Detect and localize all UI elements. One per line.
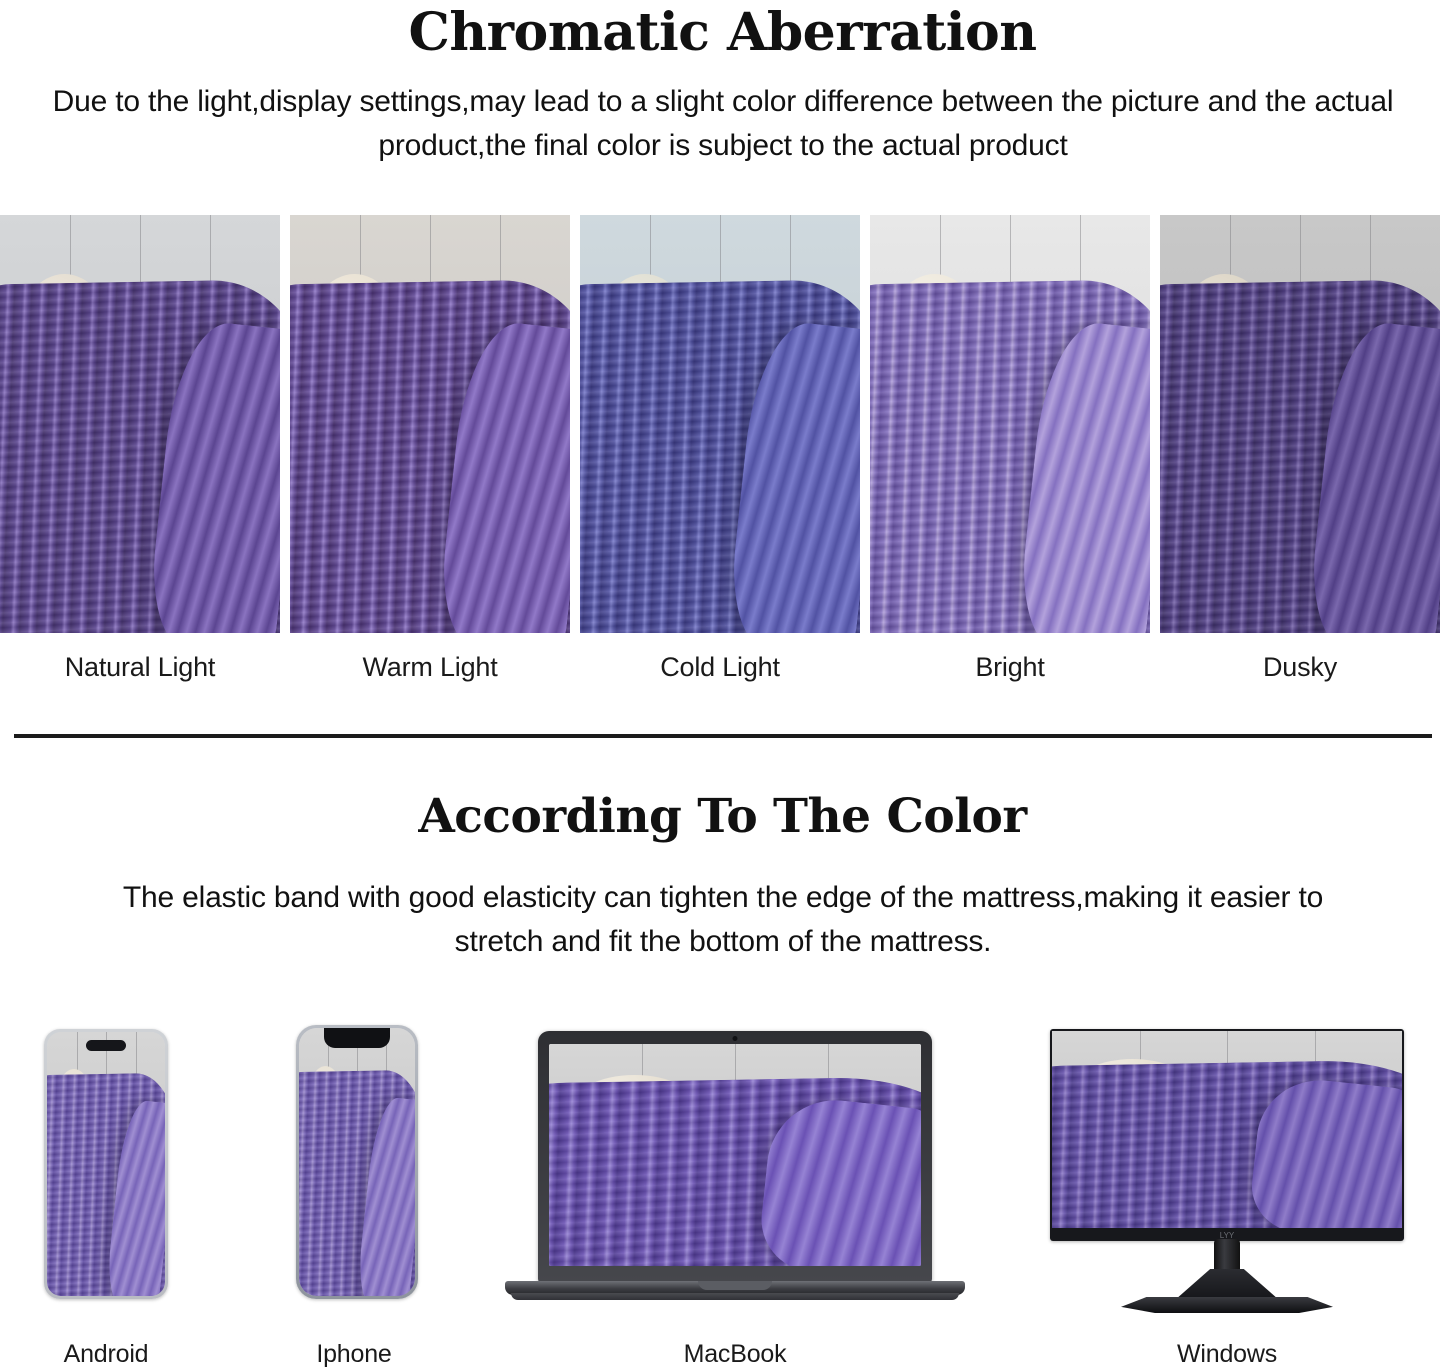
device-windows-monitor: LYY — [1050, 1029, 1404, 1315]
monitor-scene — [1052, 1031, 1402, 1228]
device-label: Windows — [1050, 1340, 1404, 1369]
lighting-panel-label: Natural Light — [0, 652, 280, 683]
lighting-panel-label: Warm Light — [290, 652, 570, 683]
lighting-panel-photo — [1160, 215, 1440, 633]
device-android-phone — [44, 1029, 168, 1299]
camera-island-icon — [86, 1040, 126, 1051]
lighting-panel[interactable] — [290, 215, 570, 633]
lighting-panel-photo — [290, 215, 570, 633]
notch-icon — [324, 1028, 390, 1048]
device-label: Android — [20, 1340, 192, 1369]
macbook-trackpad-notch — [698, 1281, 772, 1290]
device-label: MacBook — [505, 1340, 965, 1369]
monitor-screen — [1052, 1031, 1402, 1228]
android-scene — [47, 1032, 165, 1296]
lighting-panel-label: Bright — [870, 652, 1150, 683]
webcam-icon — [733, 1036, 738, 1041]
lighting-panel-photo — [870, 215, 1150, 633]
lighting-panel-label: Cold Light — [580, 652, 860, 683]
lighting-panel[interactable] — [870, 215, 1150, 633]
device-mockup-row: LYY — [0, 1015, 1445, 1315]
lighting-panel-label: Dusky — [1160, 652, 1440, 683]
chromatic-aberration-title: Chromatic Aberration — [0, 2, 1445, 64]
according-to-the-color-title: According To The Color — [0, 788, 1445, 846]
device-label: Iphone — [268, 1340, 440, 1369]
lighting-panel-photo — [0, 215, 280, 633]
lighting-comparison-row — [0, 215, 1445, 633]
according-to-the-color-subtitle: The elastic band with good elasticity ca… — [78, 876, 1368, 964]
lighting-panel[interactable] — [0, 215, 280, 633]
lighting-panel-photo — [580, 215, 860, 633]
device-iphone — [296, 1025, 418, 1299]
monitor-base — [1121, 1297, 1333, 1313]
macbook-scene — [549, 1044, 921, 1266]
macbook-lid — [538, 1031, 932, 1283]
lighting-panel[interactable] — [580, 215, 860, 633]
android-screen — [47, 1032, 165, 1296]
lighting-panel[interactable] — [1160, 215, 1440, 633]
product-infographic: Chromatic Aberration Due to the light,di… — [0, 0, 1445, 1372]
macbook-foot — [511, 1293, 959, 1300]
macbook-screen — [549, 1044, 921, 1266]
iphone-screen — [299, 1028, 415, 1296]
device-macbook — [505, 1031, 965, 1315]
monitor-bezel: LYY — [1050, 1029, 1404, 1241]
iphone-scene — [299, 1028, 415, 1296]
chromatic-aberration-subtitle: Due to the light,display settings,may le… — [48, 80, 1398, 168]
section-divider — [14, 734, 1432, 738]
